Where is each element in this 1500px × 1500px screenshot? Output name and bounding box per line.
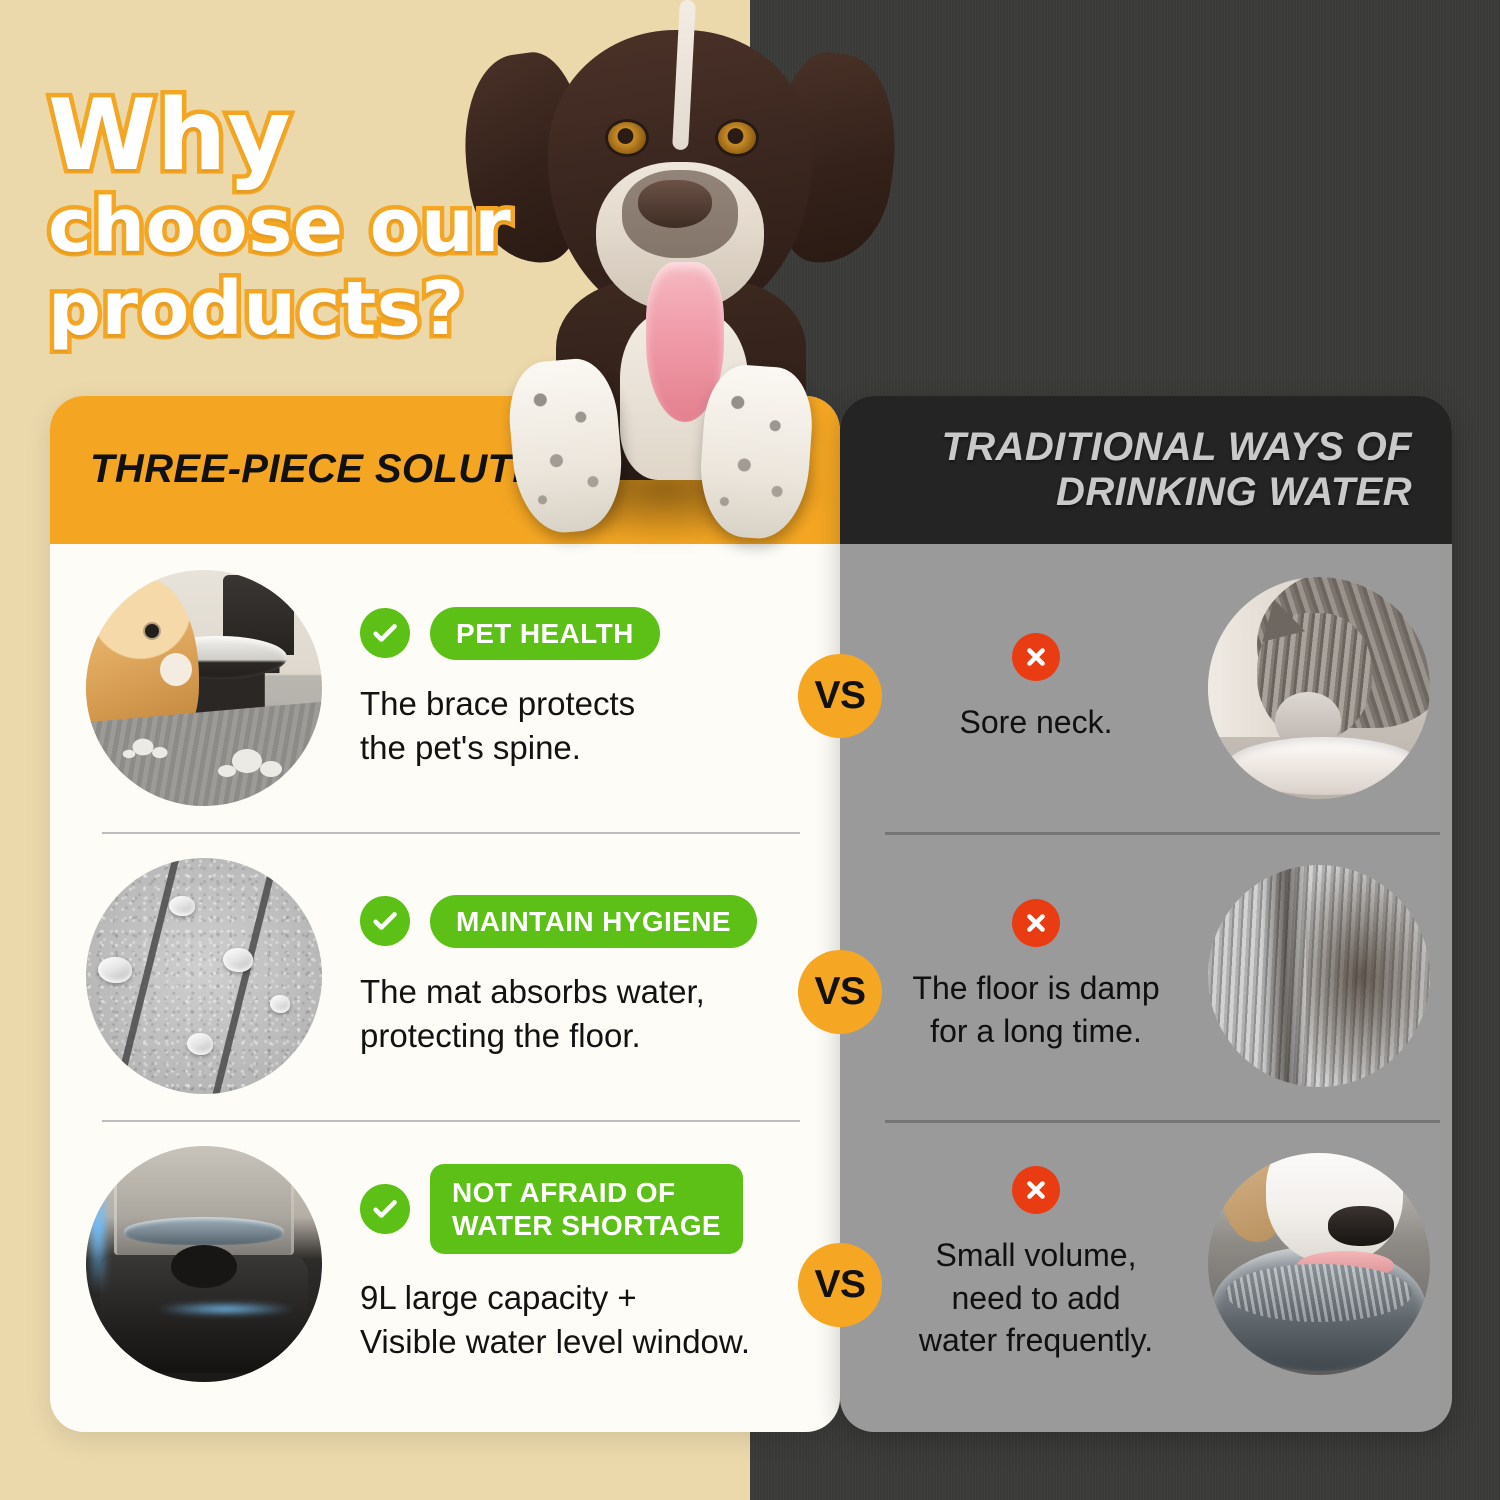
drawback-description: Sore neck. (960, 701, 1113, 744)
left-row-text: MAINTAIN HYGIENE The mat absorbs water, … (360, 895, 798, 1058)
drawback-description: Small volume, need to add water frequent… (919, 1234, 1153, 1363)
vs-badge: VS (798, 654, 882, 738)
left-card-rows: PET HEALTH The brace protects the pet's … (50, 544, 840, 1408)
check-circle-icon (360, 1184, 410, 1234)
badge-row: MAINTAIN HYGIENE (360, 895, 798, 948)
water-dispenser-base-photo (86, 1146, 322, 1382)
left-row-text: NOT AFRAID OF WATER SHORTAGE 9L large ca… (360, 1164, 798, 1364)
list-item[interactable]: The floor is damp for a long time. (840, 832, 1452, 1120)
brown-white-dog-with-paws-photo (470, 0, 890, 564)
list-item[interactable]: NOT AFRAID OF WATER SHORTAGE 9L large ca… (50, 1120, 840, 1408)
list-item[interactable]: PET HEALTH The brace protects the pet's … (50, 544, 840, 832)
vs-badge: VS (798, 950, 882, 1034)
right-card-header: TRADITIONAL WAYS OF DRINKING WATER (840, 396, 1452, 544)
left-row-text: PET HEALTH The brace protects the pet's … (360, 607, 798, 770)
check-circle-icon (360, 608, 410, 658)
feature-description: The brace protects the pet's spine. (360, 682, 798, 770)
page-title-line-3: products? (48, 273, 518, 346)
damp-wood-floor-photo (1208, 865, 1430, 1087)
check-circle-icon (360, 896, 410, 946)
feature-badge: MAINTAIN HYGIENE (430, 895, 757, 948)
cat-drinking-floor-bowl-photo (1208, 577, 1430, 799)
pomeranian-elevated-bowl-photo (86, 570, 322, 806)
right-card-rows: Sore neck. The floor is damp for a long … (840, 544, 1452, 1408)
feature-description: 9L large capacity + Visible water level … (360, 1276, 798, 1364)
right-row-text: The floor is damp for a long time. (872, 899, 1208, 1053)
feature-description: The mat absorbs water, protecting the fl… (360, 970, 798, 1058)
x-circle-icon (1012, 899, 1060, 947)
page-title-line-1: Why (48, 88, 518, 184)
traditional-ways-card: TRADITIONAL WAYS OF DRINKING WATER Sore … (840, 396, 1452, 1432)
right-row-text: Sore neck. (872, 633, 1208, 744)
dog-lapping-small-bowl-photo (1208, 1153, 1430, 1375)
feature-badge: PET HEALTH (430, 607, 660, 660)
x-circle-icon (1012, 1166, 1060, 1214)
x-circle-icon (1012, 633, 1060, 681)
drawback-description: The floor is damp for a long time. (912, 967, 1159, 1053)
feature-badge: NOT AFRAID OF WATER SHORTAGE (430, 1164, 743, 1254)
vs-badge: VS (798, 1243, 882, 1327)
right-card-header-title: TRADITIONAL WAYS OF DRINKING WATER (880, 425, 1412, 515)
badge-row: NOT AFRAID OF WATER SHORTAGE (360, 1164, 798, 1254)
list-item[interactable]: Sore neck. (840, 544, 1452, 832)
page-title-line-2: choose our (48, 190, 518, 263)
right-row-text: Small volume, need to add water frequent… (872, 1166, 1208, 1363)
list-item[interactable]: MAINTAIN HYGIENE The mat absorbs water, … (50, 832, 840, 1120)
absorbent-mat-water-droplets-photo (86, 858, 322, 1094)
list-item[interactable]: Small volume, need to add water frequent… (840, 1120, 1452, 1408)
page-title: Why choose our products? (48, 88, 518, 345)
badge-row: PET HEALTH (360, 607, 798, 660)
